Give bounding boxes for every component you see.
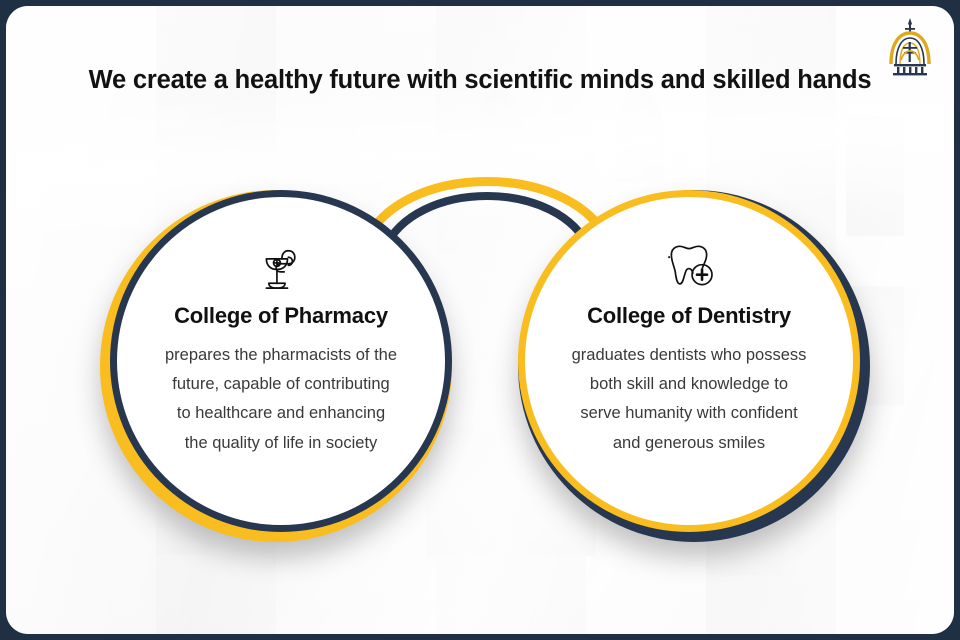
university-emblem-logo: [878, 14, 942, 78]
bowl-of-hygieia-icon: [255, 241, 307, 293]
pharmacy-line-4: the quality of life in society: [131, 429, 431, 458]
dentistry-description: graduates dentists who possess both skil…: [539, 341, 839, 458]
card-pharmacy[interactable]: College of Pharmacy prepares the pharmac…: [100, 190, 452, 542]
pharmacy-line-3: to healthcare and enhancing: [131, 399, 431, 428]
dentistry-line-3: serve humanity with confident: [539, 399, 839, 428]
dentistry-line-4: and generous smiles: [539, 429, 839, 458]
pharmacy-description: prepares the pharmacists of the future, …: [131, 341, 431, 458]
page-title: We create a healthy future with scientif…: [6, 66, 954, 95]
dentistry-title: College of Dentistry: [587, 303, 791, 329]
tooth-with-cross-icon: [662, 241, 716, 293]
dentistry-content: College of Dentistry graduates dentists …: [525, 197, 853, 525]
pharmacy-line-1: prepares the pharmacists of the: [131, 341, 431, 370]
pharmacy-content: College of Pharmacy prepares the pharmac…: [117, 197, 445, 525]
slide-canvas: We create a healthy future with scientif…: [6, 6, 954, 634]
dentistry-line-1: graduates dentists who possess: [539, 341, 839, 370]
dentistry-line-2: both skill and knowledge to: [539, 370, 839, 399]
slide-frame: We create a healthy future with scientif…: [0, 0, 960, 640]
pharmacy-title: College of Pharmacy: [174, 303, 388, 329]
card-dentistry[interactable]: College of Dentistry graduates dentists …: [518, 190, 870, 542]
pharmacy-line-2: future, capable of contributing: [131, 370, 431, 399]
